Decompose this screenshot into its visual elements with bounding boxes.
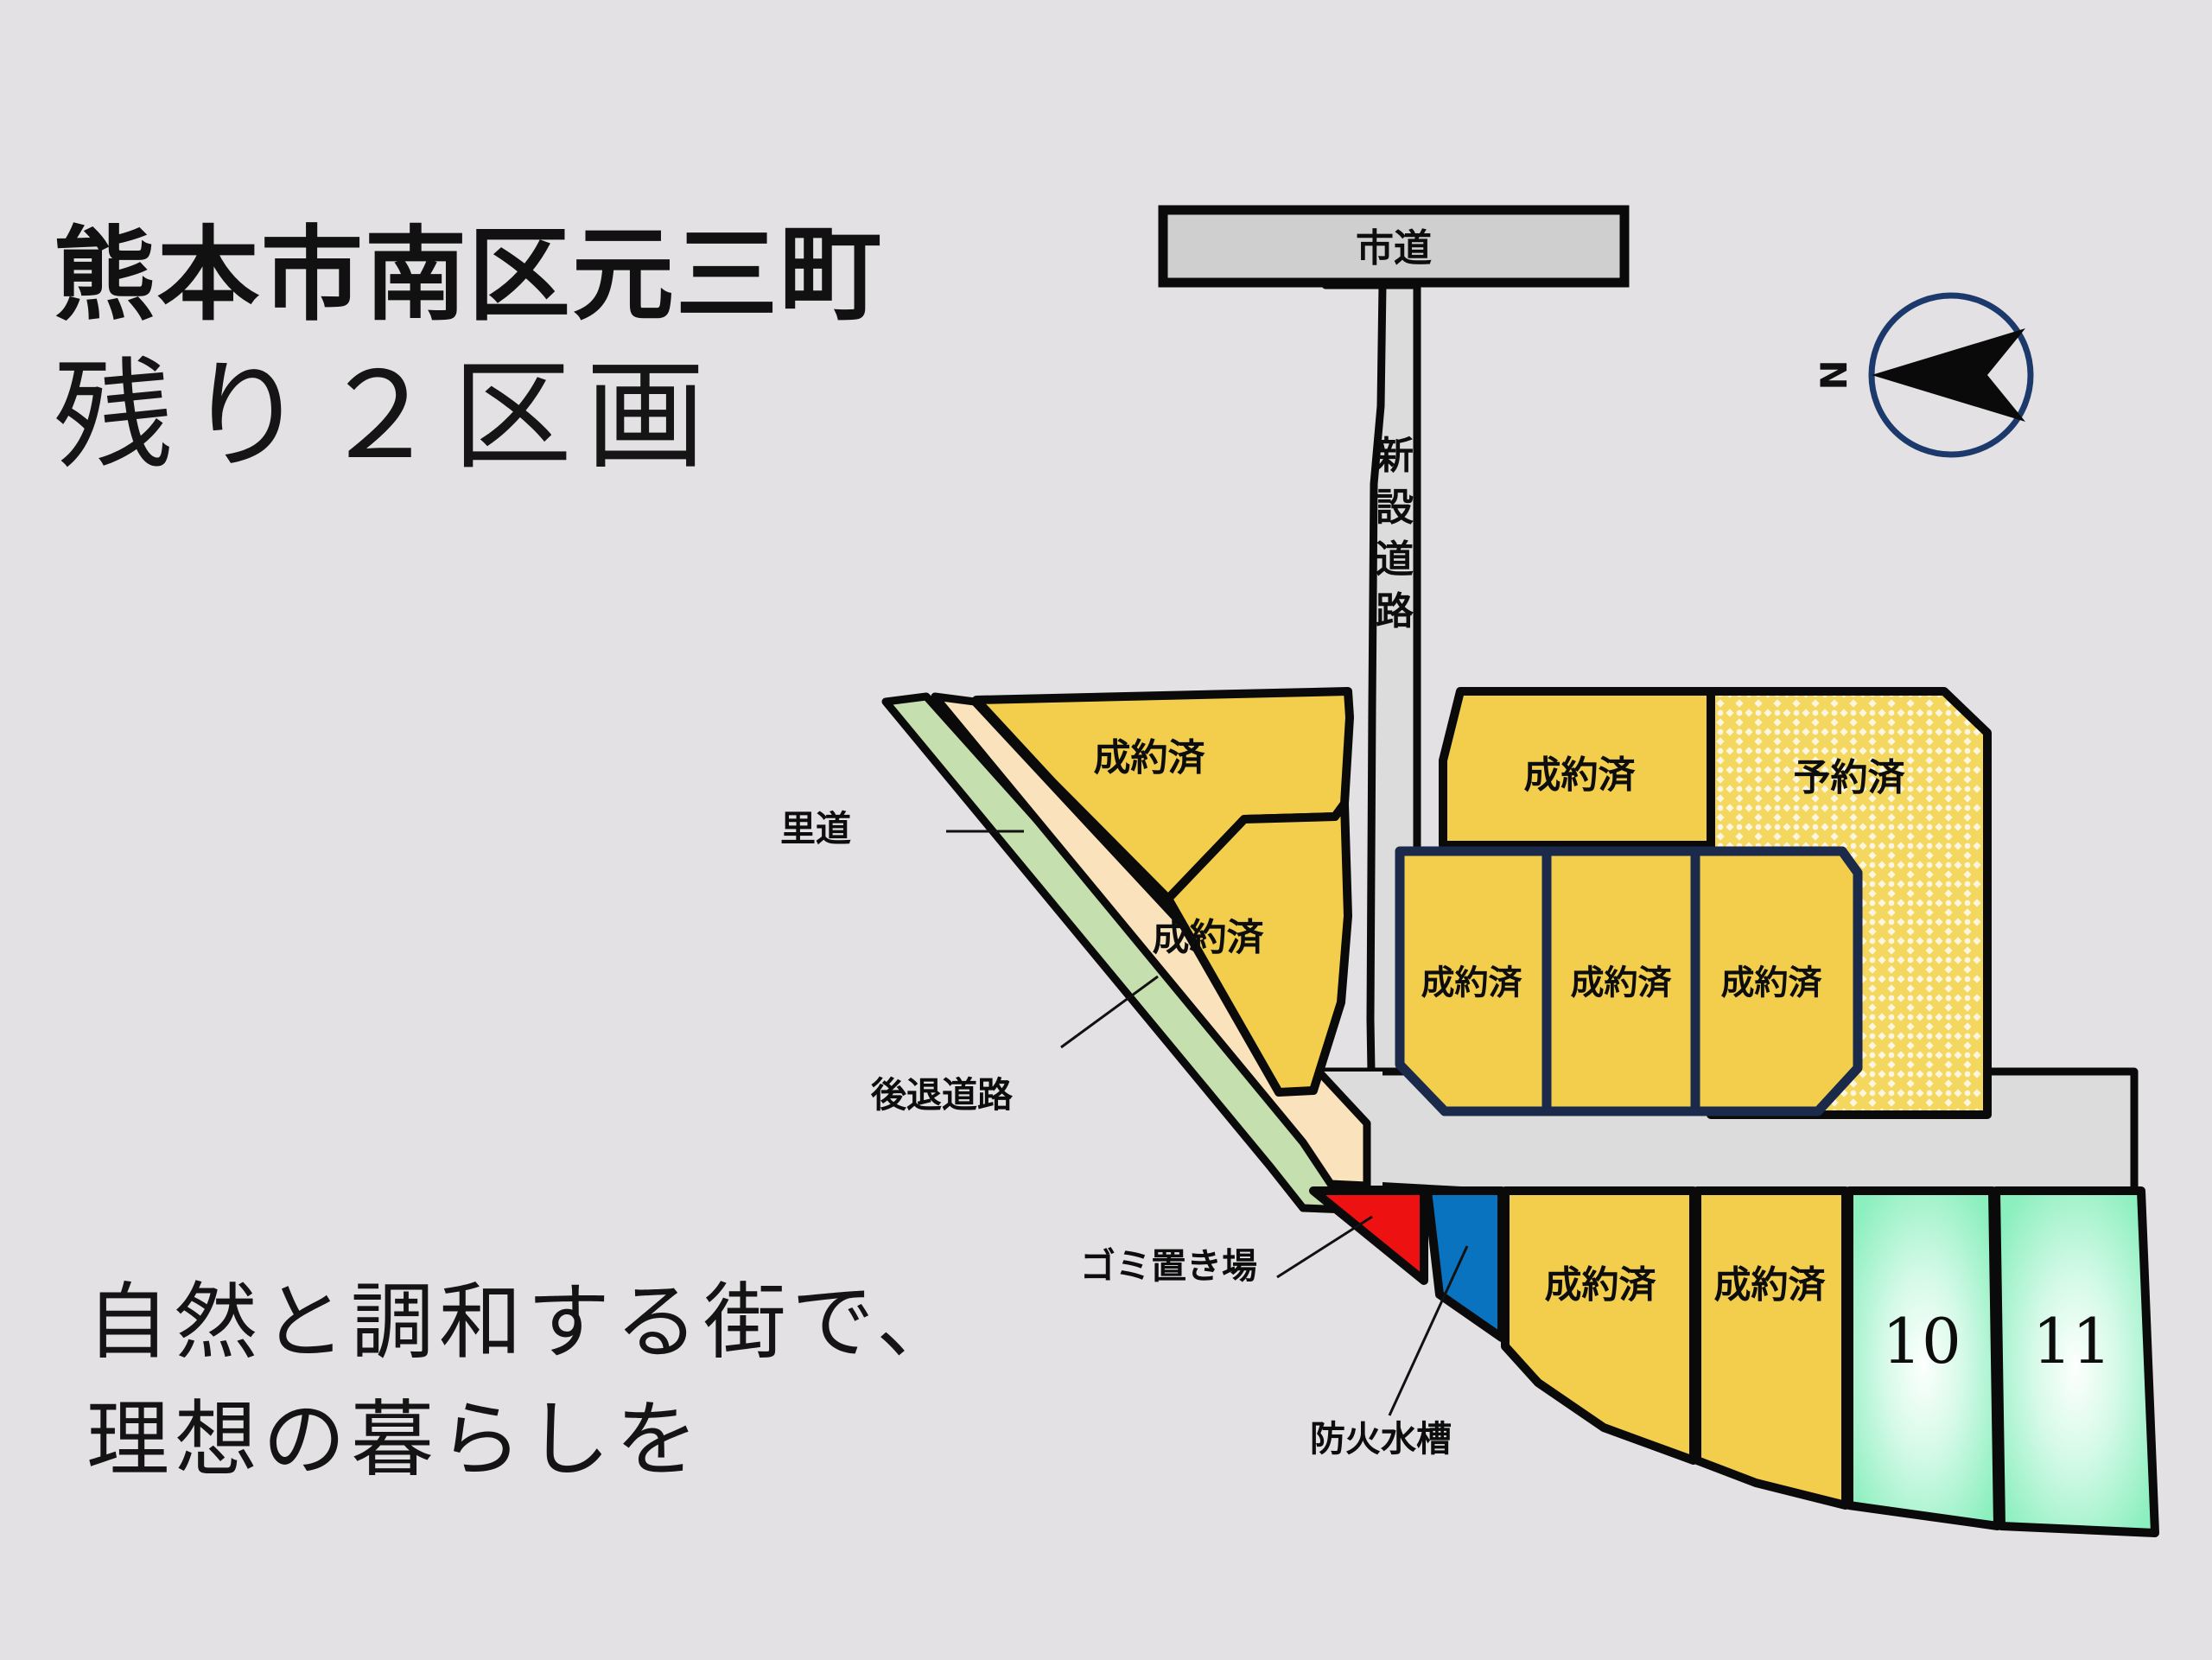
garbage-point-label: ゴミ置き場 [1080, 1245, 1257, 1287]
svg-text:路: 路 [1376, 589, 1414, 633]
svg-text:新: 新 [1376, 434, 1414, 478]
plot-nw-upper-label: 成約済 [1094, 737, 1206, 780]
plot-s-sold-1-label: 成約済 [1545, 1264, 1657, 1307]
facility-fire-cistern[interactable] [1427, 1191, 1502, 1338]
svg-text:道: 道 [1376, 537, 1414, 582]
compass-north-label: N [1812, 359, 1854, 390]
plot-ne-row-1-label: 成約済 [1421, 964, 1522, 1003]
compass-rose: N [1812, 296, 2031, 455]
plot-ne-reserved-label: 予約済 [1794, 757, 1906, 800]
flyer-canvas: 熊本市南区元三町 残り２区画 自然と調和する街で、 理想の暮らしを [0, 0, 2212, 1660]
plot-s-10-label: 10 [1882, 1305, 1961, 1377]
garbage-point-leader [1277, 1217, 1372, 1277]
plot-s-sold-1[interactable] [1505, 1191, 1694, 1460]
plot-s-sold-2[interactable] [1697, 1191, 1846, 1505]
plot-ne-row-3-label: 成約済 [1720, 964, 1822, 1003]
northeast-block: 予約済 成約済 成約済 成約済 成約済 [1400, 691, 1987, 1115]
south-block: 成約済 成約済 10 11 [1313, 1191, 2155, 1533]
plot-s-11-label: 11 [2032, 1305, 2112, 1377]
city-road-label: 市道 [1356, 226, 1432, 270]
plot-nw-lower-label: 成約済 [1153, 917, 1265, 960]
plot-ne-top-label: 成約済 [1524, 754, 1637, 798]
northwest-block: 成約済 成約済 [886, 691, 1367, 1210]
plot-s-sold-2-label: 成約済 [1714, 1264, 1827, 1307]
subdivision-map: 市道 新 設 道 路 成約済 成約済 予約済 [0, 0, 2212, 1660]
village-road-label: 里道 [780, 808, 851, 849]
facility-garbage-point[interactable] [1313, 1191, 1424, 1281]
setback-road-label: 後退道路 [870, 1074, 1014, 1116]
compass-needle-icon [1872, 328, 2025, 422]
plot-ne-row-2-label: 成約済 [1570, 964, 1672, 1003]
svg-text:設: 設 [1376, 486, 1414, 530]
fire-cistern-label: 防火水槽 [1310, 1418, 1452, 1460]
